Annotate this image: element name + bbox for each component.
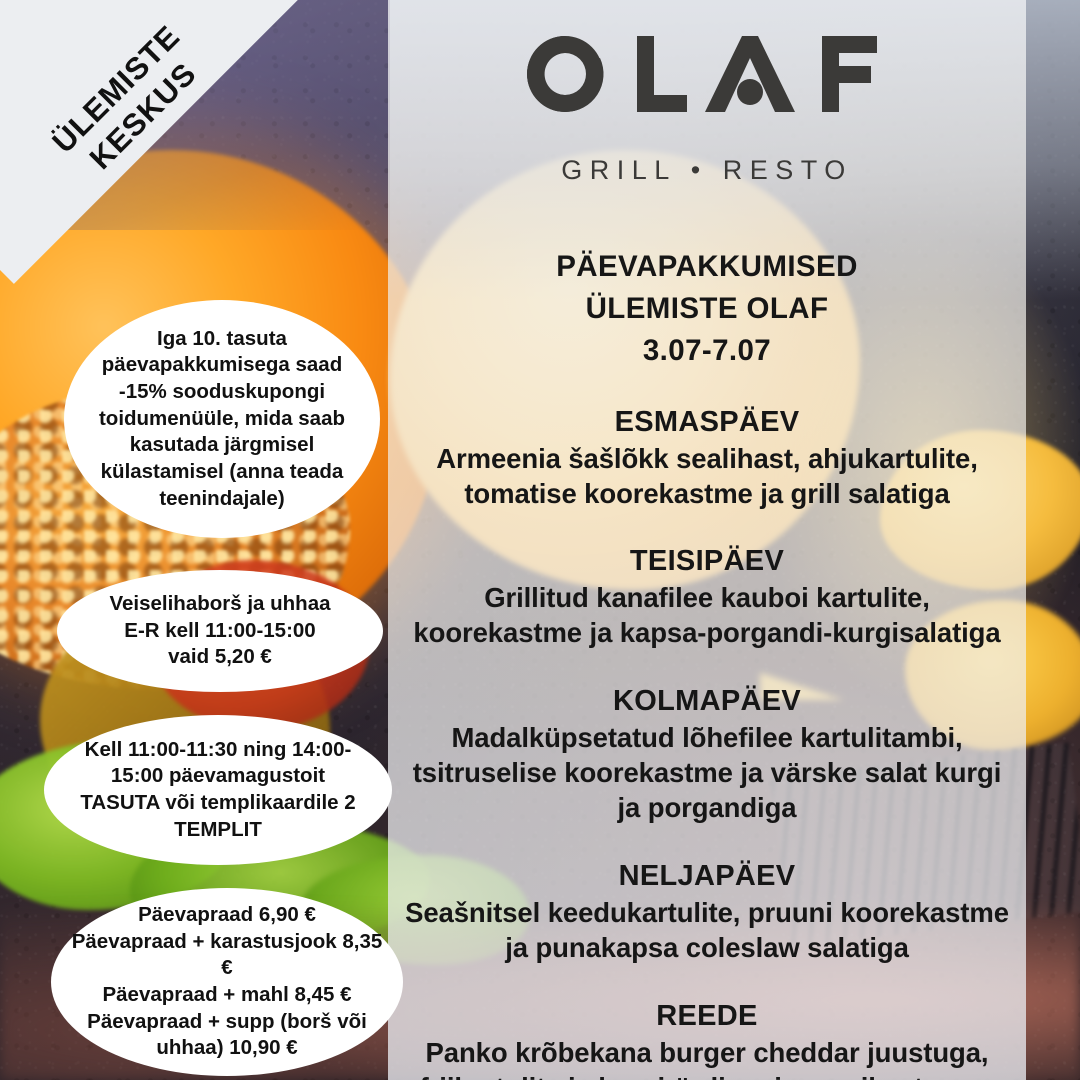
callout-line: Päevapraad + karastusjook 8,35 € xyxy=(65,929,389,982)
olaf-wordmark-icon xyxy=(527,36,887,141)
callout-dessert-offer: Kell 11:00-11:30 ning 14:00- 15:00 päeva… xyxy=(44,715,392,865)
brand-logo: GRILL • RESTO xyxy=(388,36,1026,186)
callout-line: TASUTA või templikaardile 2 xyxy=(80,790,355,817)
callout-line: kasutada järgmisel xyxy=(99,432,345,459)
callout-line: 15:00 päevamagustoit xyxy=(80,763,355,790)
callout-line: E-R kell 11:00-15:00 xyxy=(109,618,330,645)
menu-day-thursday: NELJAPÄEV Seašnitsel keedukartulite, pru… xyxy=(400,860,1014,966)
menu-day-monday: ESMASPÄEV Armeenia šašlõkk sealihast, ah… xyxy=(400,406,1014,512)
callout-price-list: Päevapraad 6,90 € Päevapraad + karastusj… xyxy=(51,888,403,1076)
callout-line: Päevapraad 6,90 € xyxy=(65,902,389,929)
menu-header-line-1: PÄEVAPAKKUMISED xyxy=(400,246,1014,288)
callout-line: -15% sooduskupongi xyxy=(99,379,345,406)
day-description: Panko krõbekana burger cheddar juustuga,… xyxy=(400,1036,1014,1080)
callout-loyalty-offer: Iga 10. tasuta päevapakkumisega saad -15… xyxy=(64,300,380,538)
callout-line: Päevapraad + supp (borš või xyxy=(65,1009,389,1036)
day-description: Grillitud kanafilee kauboi kartulite, ko… xyxy=(400,581,1014,651)
day-description: Madalküpsetatud lõhefilee kartulitambi, … xyxy=(400,721,1014,826)
callout-line: päevapakkumisega saad xyxy=(99,352,345,379)
promo-poster: ÜLEMISTE KESKUS GRILL • RESTO PÄE xyxy=(0,0,1080,1080)
callout-line: uhhaa) 10,90 € xyxy=(65,1035,389,1062)
day-name: TEISIPÄEV xyxy=(400,545,1014,578)
menu-header-date-range: 3.07-7.07 xyxy=(400,330,1014,372)
daily-offers-menu: PÄEVAPAKKUMISED ÜLEMISTE OLAF 3.07-7.07 … xyxy=(400,246,1014,1080)
day-name: REEDE xyxy=(400,1000,1014,1033)
callout-line: Päevapraad + mahl 8,45 € xyxy=(65,982,389,1009)
callout-line: külastamisel (anna teada xyxy=(99,459,345,486)
callout-line: Kell 11:00-11:30 ning 14:00- xyxy=(80,737,355,764)
day-description: Seašnitsel keedukartulite, pruuni koorek… xyxy=(400,896,1014,966)
day-name: NELJAPÄEV xyxy=(400,860,1014,893)
menu-day-friday: REEDE Panko krõbekana burger cheddar juu… xyxy=(400,1000,1014,1080)
callout-line: Veiselihaborš ja uhhaa xyxy=(109,591,330,618)
menu-header-line-2: ÜLEMISTE OLAF xyxy=(400,288,1014,330)
callout-line: toidumenüüle, mida saab xyxy=(99,406,345,433)
brand-tagline: GRILL • RESTO xyxy=(388,155,1026,186)
menu-day-wednesday: KOLMAPÄEV Madalküpsetatud lõhefilee kart… xyxy=(400,685,1014,826)
callout-line: teenindajale) xyxy=(99,486,345,513)
menu-header: PÄEVAPAKKUMISED ÜLEMISTE OLAF 3.07-7.07 xyxy=(400,246,1014,372)
day-name: ESMASPÄEV xyxy=(400,406,1014,439)
callout-line: Iga 10. tasuta xyxy=(99,326,345,353)
callout-line: vaid 5,20 € xyxy=(109,644,330,671)
callout-line: TEMPLIT xyxy=(80,817,355,844)
day-name: KOLMAPÄEV xyxy=(400,685,1014,718)
callout-soup-offer: Veiselihaborš ja uhhaa E-R kell 11:00-15… xyxy=(57,570,383,692)
day-description: Armeenia šašlõkk sealihast, ahjukartulit… xyxy=(400,442,1014,512)
menu-day-tuesday: TEISIPÄEV Grillitud kanafilee kauboi kar… xyxy=(400,545,1014,651)
